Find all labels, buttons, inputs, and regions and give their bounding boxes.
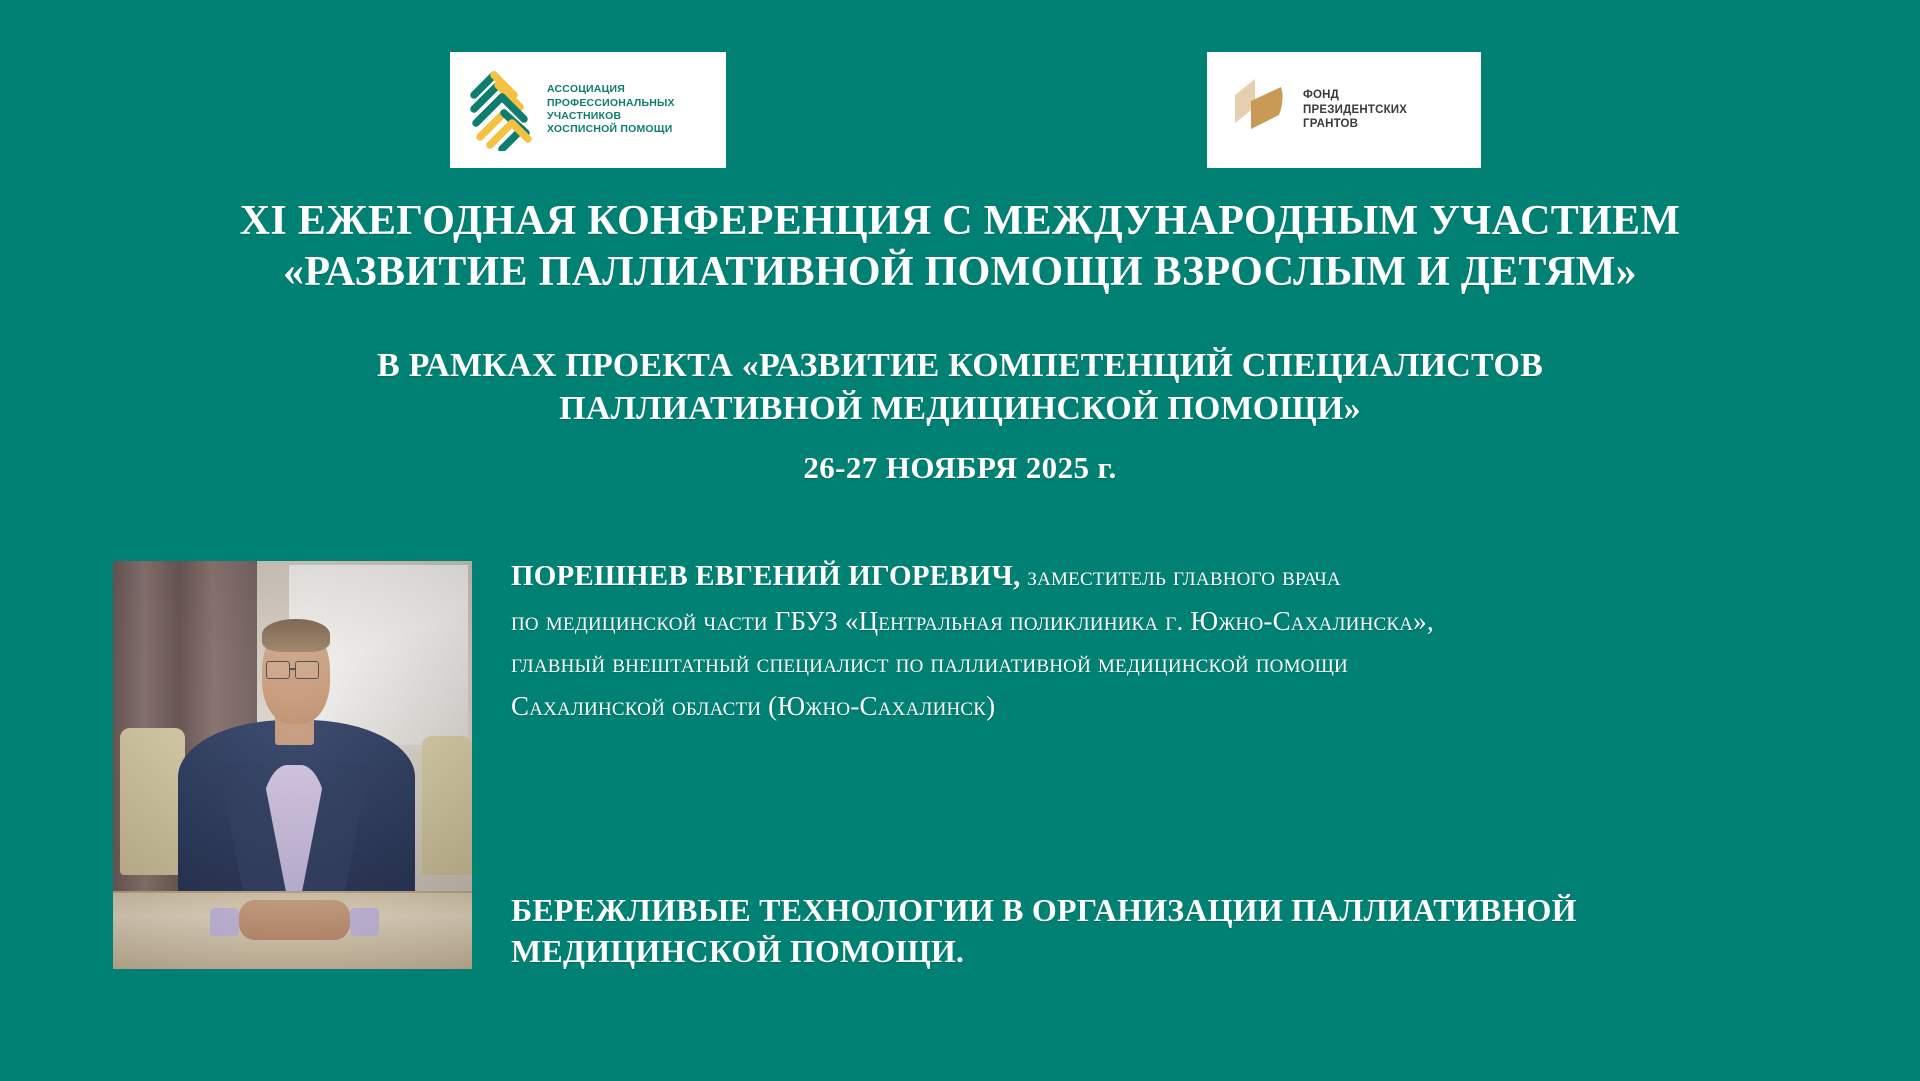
presidential-grants-logo-card: ФОНД ПРЕЗИДЕНТСКИХ ГРАНТОВ: [1207, 52, 1481, 168]
photo-vignette: [113, 561, 472, 969]
project-subtitle-line-2: ПАЛЛИАТИВНОЙ МЕДИЦИНСКОЙ ПОМОЩИ»: [0, 388, 1920, 431]
presidential-grants-wordmark: ФОНД ПРЕЗИДЕНТСКИХ ГРАНТОВ: [1303, 88, 1407, 132]
association-logo-line-2: ПРОФЕССИОНАЛЬНЫХ: [547, 97, 675, 110]
talk-topic: БЕРЕЖЛИВЫЕ ТЕХНОЛОГИИ В ОРГАНИЗАЦИИ ПАЛЛ…: [511, 890, 1851, 972]
speaker-line-1: ПОРЕШНЕВ ЕВГЕНИЙ ИГОРЕВИЧ, заместитель г…: [511, 554, 1871, 600]
project-subtitle: В РАМКАХ ПРОЕКТА «РАЗВИТИЕ КОМПЕТЕНЦИЙ С…: [0, 345, 1920, 430]
association-logo-card: АССОЦИАЦИЯ ПРОФЕССИОНАЛЬНЫХ УЧАСТНИКОВ Х…: [450, 52, 726, 168]
speaker-line-3: главный внештатный специалист по паллиат…: [511, 642, 1871, 685]
speaker-info: ПОРЕШНЕВ ЕВГЕНИЙ ИГОРЕВИЧ, заместитель г…: [511, 554, 1871, 728]
speaker-photo-scene: [113, 561, 472, 969]
speaker-photo: [113, 561, 472, 969]
logo-row: АССОЦИАЦИЯ ПРОФЕССИОНАЛЬНЫХ УЧАСТНИКОВ Х…: [0, 52, 1920, 168]
association-clasped-hands-icon: [464, 65, 538, 156]
association-logo-line-4: ХОСПИСНОЙ ПОМОЩИ: [547, 123, 675, 136]
association-logo-line-1: АССОЦИАЦИЯ: [547, 83, 675, 96]
association-logo-wordmark: АССОЦИАЦИЯ ПРОФЕССИОНАЛЬНЫХ УЧАСТНИКОВ Х…: [547, 83, 675, 137]
presidential-grants-line-3: ГРАНТОВ: [1303, 117, 1407, 132]
association-logo-line-3: УЧАСТНИКОВ: [547, 110, 675, 123]
conference-dates: 26-27 НОЯБРЯ 2025 г.: [0, 450, 1920, 486]
project-subtitle-line-1: В РАМКАХ ПРОЕКТА «РАЗВИТИЕ КОМПЕТЕНЦИЙ С…: [0, 345, 1920, 388]
presidential-grants-line-1: ФОНД: [1303, 88, 1407, 103]
talk-topic-line-2: МЕДИЦИНСКОЙ ПОМОЩИ.: [511, 931, 1851, 972]
speaker-line-2: по медицинской части ГБУЗ «Центральная п…: [511, 600, 1871, 643]
speaker-line-4: Сахалинской области (Южно-Сахалинск): [511, 685, 1871, 728]
speaker-name: ПОРЕШНЕВ ЕВГЕНИЙ ИГОРЕВИЧ,: [511, 560, 1020, 592]
presidential-grants-ribbon-icon: [1229, 73, 1291, 148]
talk-topic-line-1: БЕРЕЖЛИВЫЕ ТЕХНОЛОГИИ В ОРГАНИЗАЦИИ ПАЛЛ…: [511, 890, 1851, 931]
speaker-role-part-1: заместитель главного врача: [1027, 561, 1340, 591]
presidential-grants-line-2: ПРЕЗИДЕНТСКИХ: [1303, 103, 1407, 118]
conference-title-line-2: «РАЗВИТИЕ ПАЛЛИАТИВНОЙ ПОМОЩИ ВЗРОСЛЫМ И…: [0, 247, 1920, 298]
conference-title: XI ЕЖЕГОДНАЯ КОНФЕРЕНЦИЯ С МЕЖДУНАРОДНЫМ…: [0, 196, 1920, 298]
conference-title-line-1: XI ЕЖЕГОДНАЯ КОНФЕРЕНЦИЯ С МЕЖДУНАРОДНЫМ…: [0, 196, 1920, 247]
